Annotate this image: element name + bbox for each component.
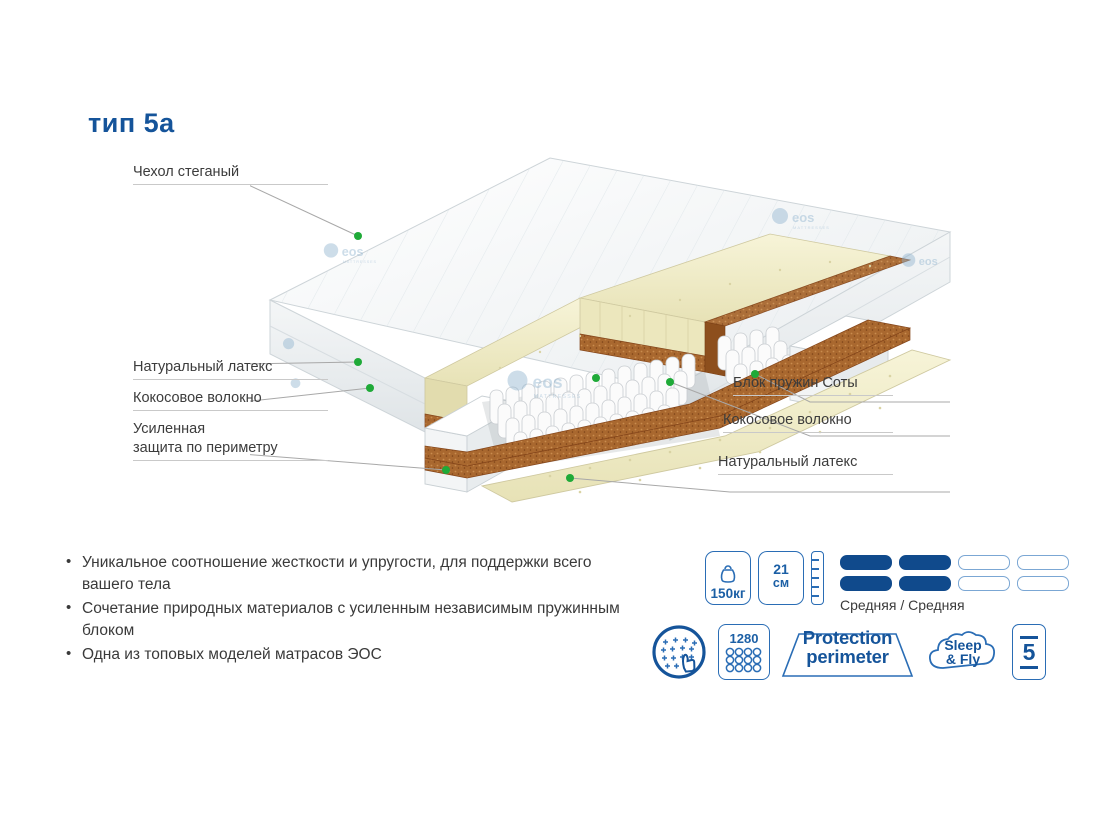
firmness-pill <box>840 576 892 591</box>
svg-text:eos: eos <box>792 210 814 225</box>
callout-label-cover: Чехол стеганый <box>133 163 328 185</box>
product-spec-page: тип 5а <box>0 0 1100 814</box>
callout-label-spring-block: Блок пружин Соты <box>733 374 893 396</box>
svg-text:eos: eos <box>533 372 563 392</box>
ruler-icon <box>811 551 824 605</box>
callout-label-perimeter: Усиленная защита по периметру <box>133 420 328 461</box>
height-unit: см <box>773 576 789 590</box>
height-value: 21 <box>773 563 789 576</box>
warranty-years-value: 5 <box>1023 642 1036 663</box>
svg-text:eos: eos <box>342 245 364 259</box>
callout-label-latex-right: Натуральный латекс <box>718 453 893 475</box>
callout-label-latex-left: Натуральный латекс <box>133 358 328 380</box>
spec-icon-group: 150кг 21 см <box>705 551 824 605</box>
list-item: Сочетание природных материалов с усиленн… <box>82 598 642 642</box>
badge-group: 1280 Protection perimeter <box>651 624 1046 680</box>
independent-springs-icon <box>651 624 707 680</box>
feature-bullet-list: Уникальное соотношение жесткости и упруг… <box>62 552 642 668</box>
springs-count-icon: 1280 <box>718 624 770 680</box>
height-icon: 21 см <box>758 551 804 605</box>
list-item: Уникальное соотношение жесткости и упруг… <box>82 552 642 596</box>
firmness-pill <box>899 555 951 570</box>
firmness-pill <box>1017 576 1069 591</box>
protection-line-1: Protection <box>803 627 892 648</box>
max-weight-value: 150кг <box>711 587 746 600</box>
firmness-pill <box>958 555 1010 570</box>
page-title: тип 5а <box>88 108 175 139</box>
max-weight-icon: 150кг <box>705 551 751 605</box>
svg-text:MATTRESSES: MATTRESSES <box>534 394 582 400</box>
firmness-label: Средняя / Средняя <box>840 597 1069 613</box>
brand-line-2: & Fly <box>946 651 980 667</box>
firmness-indicator: Средняя / Средняя <box>840 555 1069 613</box>
callout-label-coconut-left: Кокосовое волокно <box>133 389 328 411</box>
svg-text:eos: eos <box>919 256 938 268</box>
springs-count-value: 1280 <box>730 632 759 645</box>
list-item: Одна из топовых моделей матрасов ЭОС <box>82 644 642 666</box>
callout-label-coconut-right: Кокосовое волокно <box>723 411 893 433</box>
firmness-pill <box>840 555 892 570</box>
svg-text:MATTRESSES: MATTRESSES <box>793 225 830 230</box>
protection-perimeter-badge: Protection perimeter <box>781 624 914 680</box>
svg-text:MATTRESSES: MATTRESSES <box>343 260 377 264</box>
firmness-row-side-b <box>840 576 1069 591</box>
protection-line-2: perimeter <box>806 646 889 667</box>
warranty-bar-bottom <box>1020 666 1038 669</box>
firmness-pill <box>958 576 1010 591</box>
firmness-pill <box>1017 555 1069 570</box>
firmness-row-side-a <box>840 555 1069 570</box>
sleep-and-fly-badge: Sleep & Fly <box>925 624 1001 680</box>
sleep-and-fly-text: Sleep & Fly <box>925 638 1001 666</box>
protection-perimeter-text: Protection perimeter <box>781 628 914 666</box>
warranty-years-badge: 5 <box>1012 624 1046 680</box>
firmness-pill <box>899 576 951 591</box>
